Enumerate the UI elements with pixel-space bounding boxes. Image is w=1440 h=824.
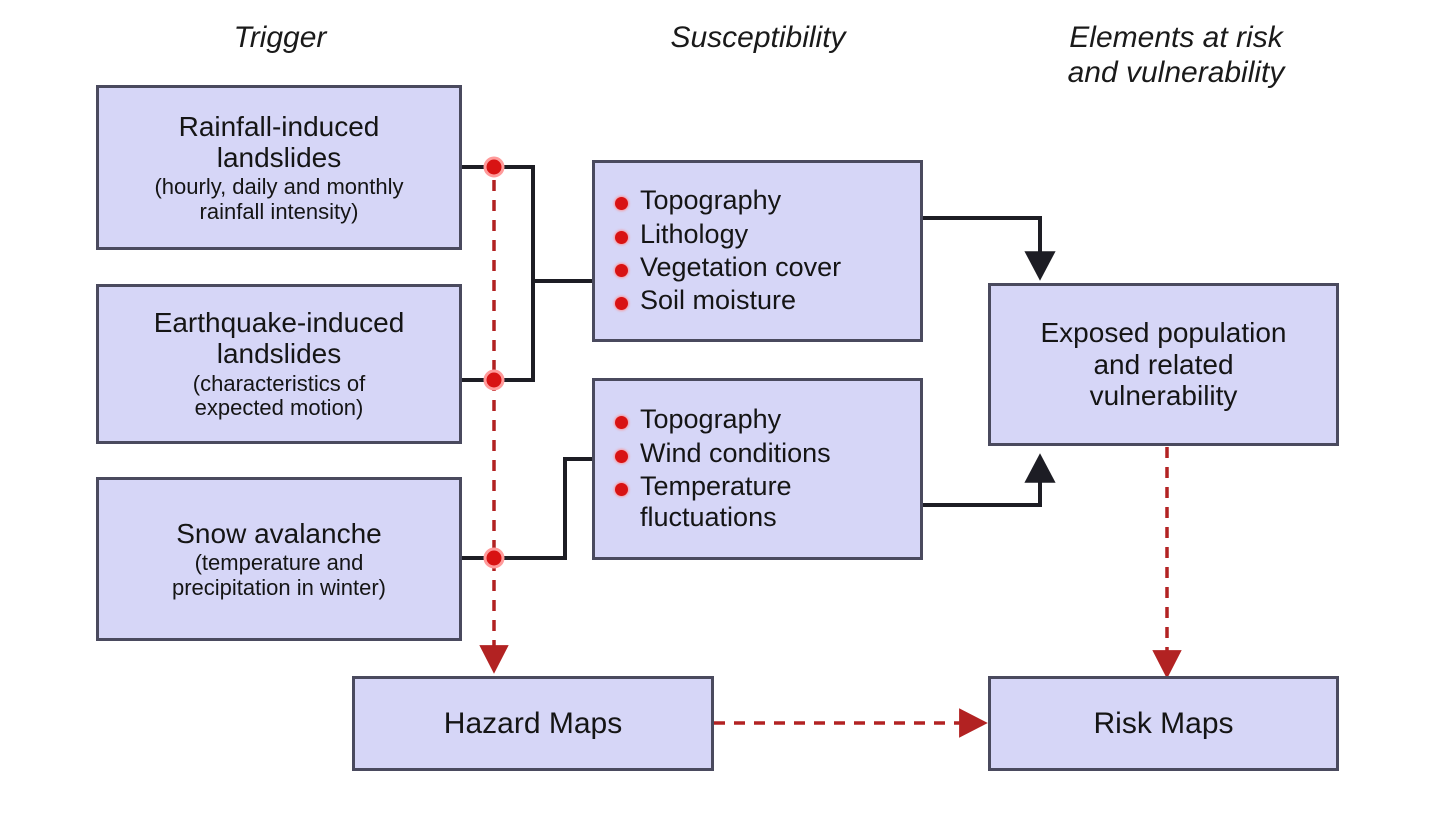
node-snow-avalanche[interactable]: Snow avalanche (temperature and precipit… [96, 477, 462, 641]
node-avalanche-susceptibility-factors[interactable]: Topography Wind conditions Temperature f… [592, 378, 923, 560]
bullet-icon [615, 450, 628, 463]
node-risk-maps[interactable]: Risk Maps [988, 676, 1339, 771]
column-heading-elements-at-risk: Elements at risk and vulnerability [1020, 20, 1332, 90]
wire-rainfall-to-trunk [462, 167, 592, 281]
node-title: Risk Maps [1087, 707, 1239, 741]
list-item-label: Temperature fluctuations [640, 471, 792, 534]
node-subtitle: (characteristics of expected motion) [187, 372, 371, 421]
node-title: Exposed population and related vulnerabi… [1035, 317, 1293, 411]
junction-dot-rainfall [485, 158, 503, 176]
wire-avalanche-to-susceptibility [462, 459, 592, 558]
node-subtitle: (temperature and precipitation in winter… [166, 551, 392, 600]
bullet-icon [615, 483, 628, 496]
junction-dot-earthquake [485, 371, 503, 389]
list-item: Temperature fluctuations [613, 471, 792, 534]
node-landslide-susceptibility-factors[interactable]: Topography Lithology Vegetation cover So… [592, 160, 923, 342]
list-item-label: Vegetation cover [640, 252, 841, 283]
bullet-icon [615, 297, 628, 310]
node-hazard-maps[interactable]: Hazard Maps [352, 676, 714, 771]
bullet-icon [615, 197, 628, 210]
list-item-label: Topography [640, 185, 781, 216]
diagram-canvas: Trigger Susceptibility Elements at risk … [0, 0, 1440, 824]
node-subtitle: (hourly, daily and monthly rainfall inte… [148, 175, 409, 224]
column-heading-trigger: Trigger [178, 20, 382, 55]
junction-dot-avalanche [485, 549, 503, 567]
list-item-label: Wind conditions [640, 438, 831, 469]
node-title: Earthquake-induced landslides [148, 307, 411, 370]
node-title: Snow avalanche [170, 518, 387, 549]
list-item-label: Soil moisture [640, 285, 796, 316]
list-item-label: Lithology [640, 219, 748, 250]
list-item-label: Topography [640, 404, 781, 435]
node-exposed-population[interactable]: Exposed population and related vulnerabi… [988, 283, 1339, 446]
wire-landslide-susceptibility-to-exposed [923, 218, 1040, 272]
list-item: Topography [613, 404, 781, 435]
list-item: Lithology [613, 219, 748, 250]
bullet-icon [615, 264, 628, 277]
node-rainfall-induced-landslides[interactable]: Rainfall-induced landslides (hourly, dai… [96, 85, 462, 250]
wire-earthquake-to-trunk [462, 281, 533, 380]
bullet-icon [615, 231, 628, 244]
list-item: Topography [613, 185, 781, 216]
bullet-icon [615, 416, 628, 429]
node-title: Hazard Maps [438, 707, 628, 741]
wire-avalanche-susceptibility-to-exposed [923, 462, 1040, 505]
column-heading-susceptibility: Susceptibility [630, 20, 886, 55]
list-item: Soil moisture [613, 285, 796, 316]
list-item: Wind conditions [613, 438, 831, 469]
node-earthquake-induced-landslides[interactable]: Earthquake-induced landslides (character… [96, 284, 462, 444]
node-title: Rainfall-induced landslides [173, 111, 386, 174]
list-item: Vegetation cover [613, 252, 841, 283]
